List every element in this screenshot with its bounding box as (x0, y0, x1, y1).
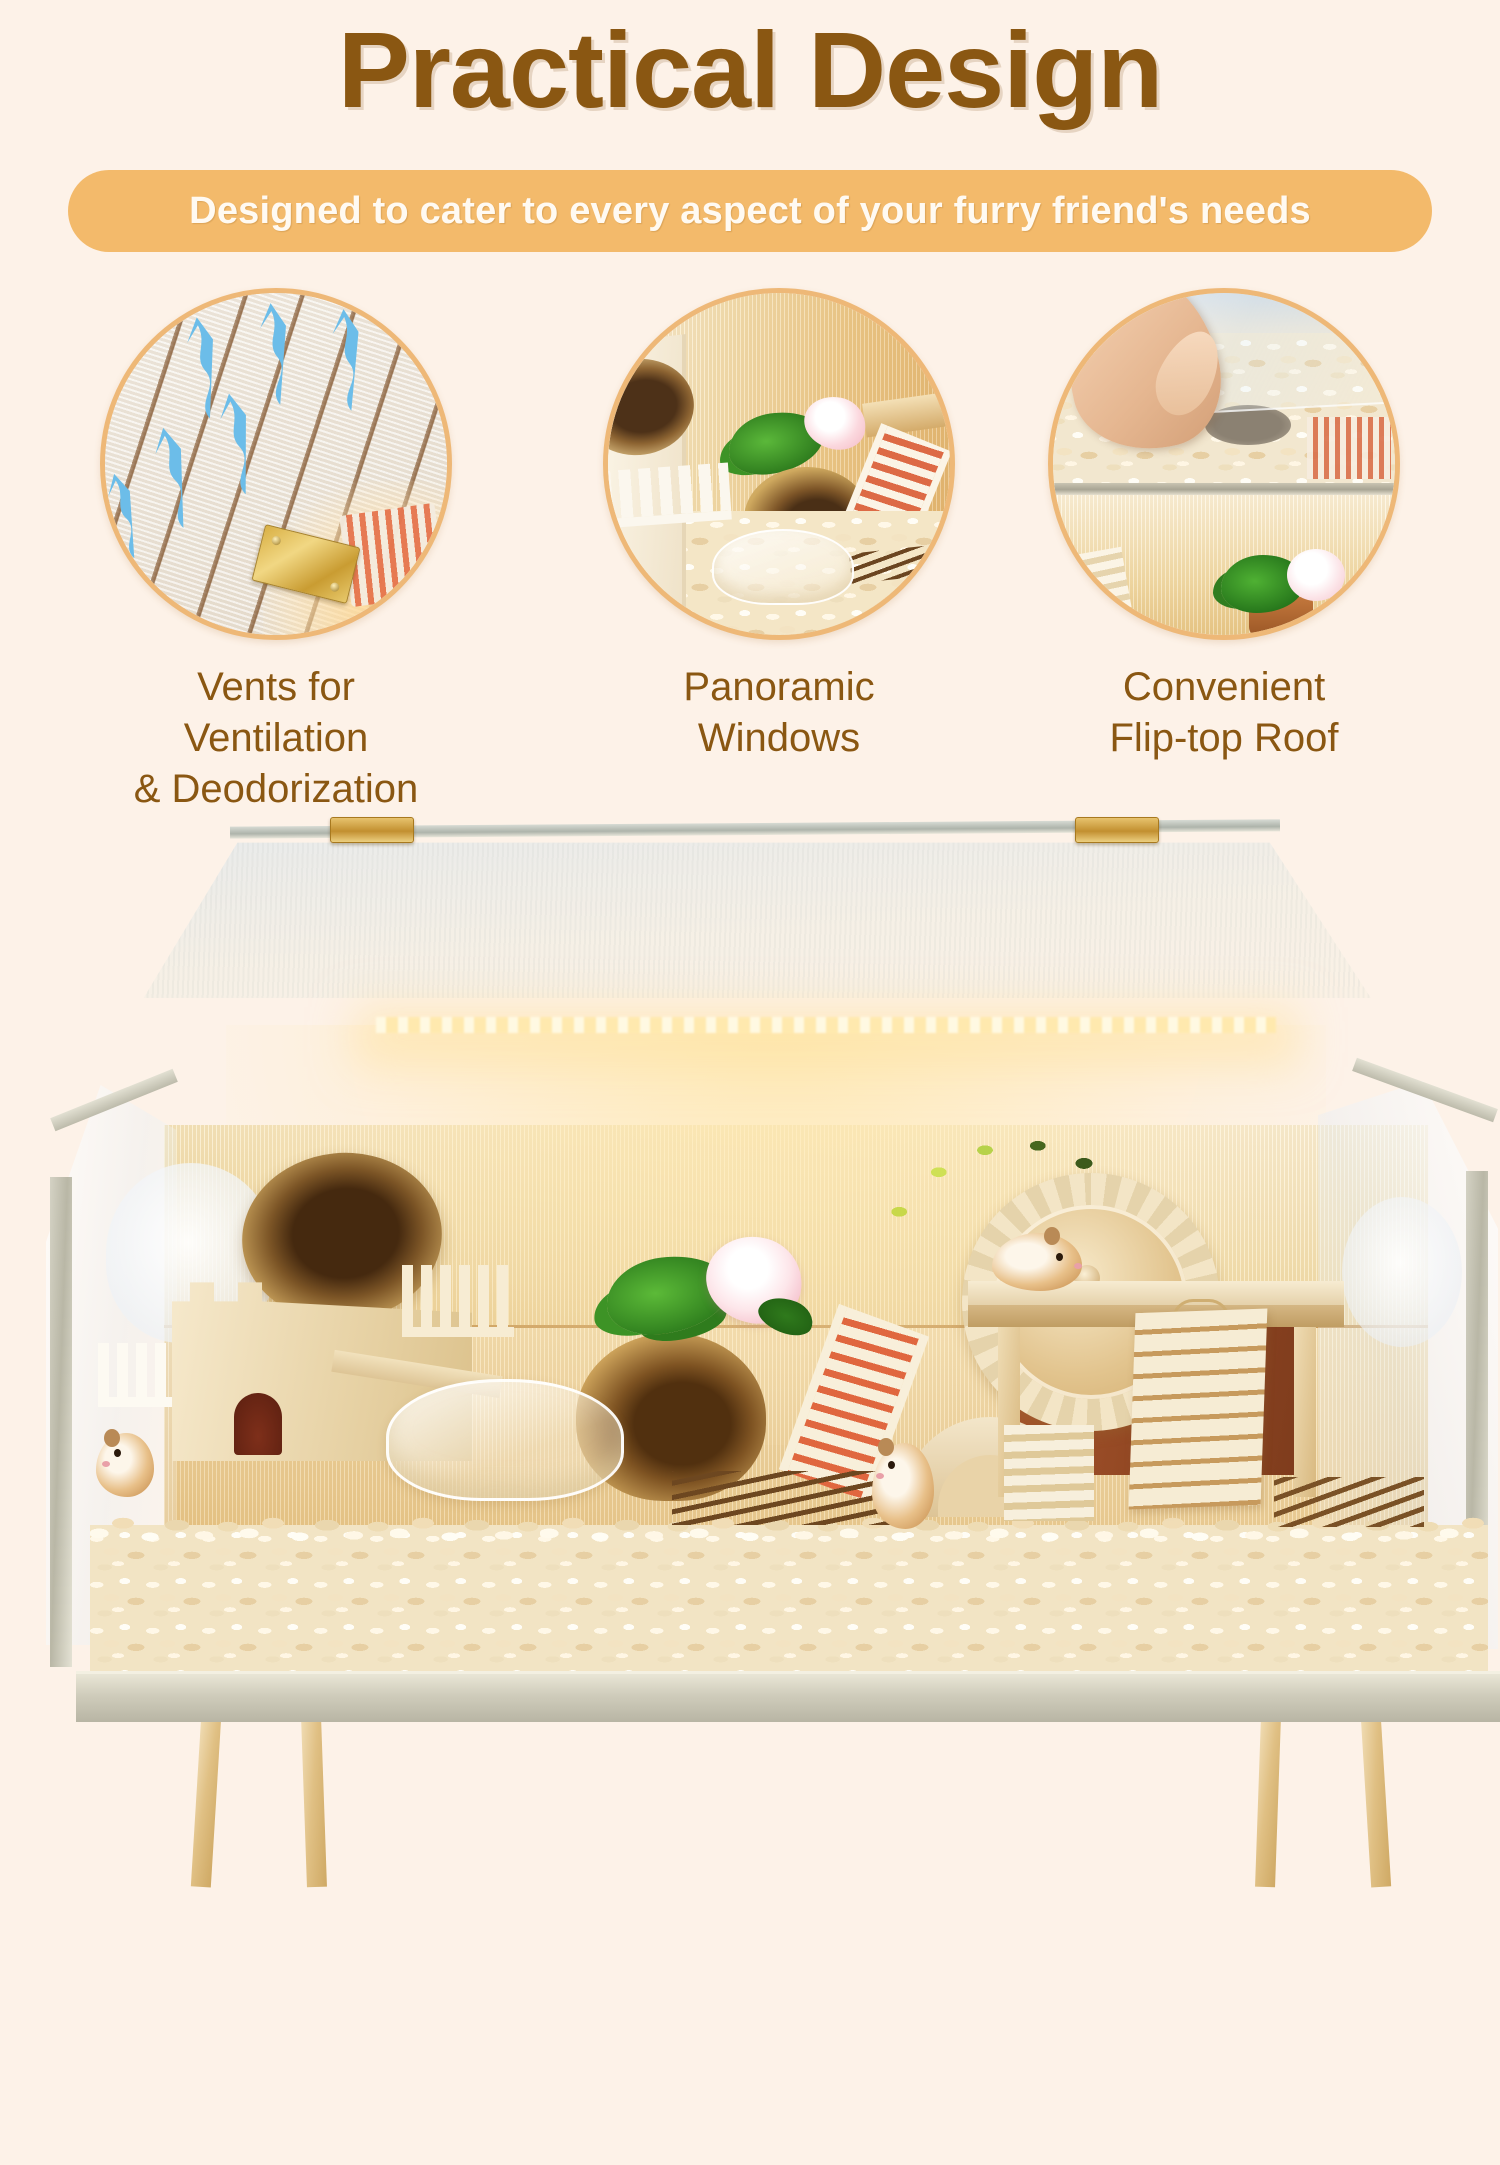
feature-card-windows: Panoramic Windows (603, 288, 955, 764)
base-frame (76, 1671, 1500, 1722)
lower-compartment (1053, 495, 1395, 635)
feature-caption-windows: Panoramic Windows (603, 662, 955, 764)
feature-image-vents (100, 288, 452, 640)
caption-line-2: Flip-top Roof (1048, 713, 1400, 764)
hamster (96, 1433, 154, 1497)
caption-line-2: Windows (603, 713, 955, 764)
red-white-ladder (1307, 417, 1391, 479)
feature-image-roof (1048, 288, 1400, 640)
glass-dome-hideout (386, 1379, 624, 1501)
cage-leg (1255, 1717, 1281, 1888)
caption-line-1: Convenient (1048, 662, 1400, 713)
hamster-body (872, 1443, 934, 1529)
led-strip-light (376, 1017, 1276, 1033)
step-ladder (1053, 547, 1136, 635)
frame-divider (1053, 483, 1395, 495)
hamster-body (992, 1233, 1082, 1291)
chew-sticks (672, 1471, 892, 1525)
feature-image-windows (603, 288, 955, 640)
cage-leg (191, 1717, 221, 1888)
hamster-nose (1074, 1263, 1082, 1269)
chew-sticks (1274, 1477, 1424, 1527)
feature-caption-roof: Convenient Flip-top Roof (1048, 662, 1400, 764)
cage-body (46, 965, 1454, 2165)
picket-fence (608, 463, 732, 529)
hamster-eye (114, 1449, 121, 1457)
subtitle-banner: Designed to cater to every aspect of you… (68, 170, 1432, 252)
product-photo (0, 795, 1500, 1500)
hamster (872, 1443, 934, 1529)
hamster-nose (876, 1473, 884, 1479)
hamster-eye (888, 1461, 895, 1469)
wood-shaving-bedding (90, 1525, 1488, 1685)
caption-line-1: Panoramic (603, 662, 955, 713)
picket-fence (402, 1265, 514, 1337)
brass-hinge-icon (330, 817, 414, 843)
feature-card-roof: Convenient Flip-top Roof (1048, 288, 1400, 764)
platform-leg (1294, 1325, 1316, 1497)
hamster-nose (102, 1461, 110, 1467)
water-bottle (1342, 1197, 1462, 1347)
upper-compartment (1053, 293, 1395, 489)
frame-post-left (50, 1177, 72, 1667)
brass-hinge-icon (1075, 817, 1159, 843)
wooden-ramp (1129, 1309, 1268, 1510)
subtitle-text: Designed to cater to every aspect of you… (189, 190, 1311, 233)
feature-caption-vents: Vents for Ventilation & Deodorization (100, 662, 452, 816)
hamster-ear (1044, 1227, 1060, 1245)
castle-doorway (234, 1393, 282, 1455)
caption-line-1: Vents for Ventilation (100, 662, 452, 764)
step-ladder (1004, 1425, 1094, 1521)
cage-leg (1361, 1717, 1391, 1888)
feature-card-vents: Vents for Ventilation & Deodorization (100, 288, 452, 816)
cage-leg (301, 1717, 327, 1888)
hamster (992, 1233, 1082, 1291)
artificial-flower (1287, 549, 1345, 601)
glass-dome-hideout (712, 529, 854, 605)
hamster-eye (1056, 1253, 1063, 1261)
hamster-ear (878, 1438, 894, 1456)
page-title: Practical Design (0, 16, 1500, 124)
hamster-ear (104, 1429, 120, 1447)
